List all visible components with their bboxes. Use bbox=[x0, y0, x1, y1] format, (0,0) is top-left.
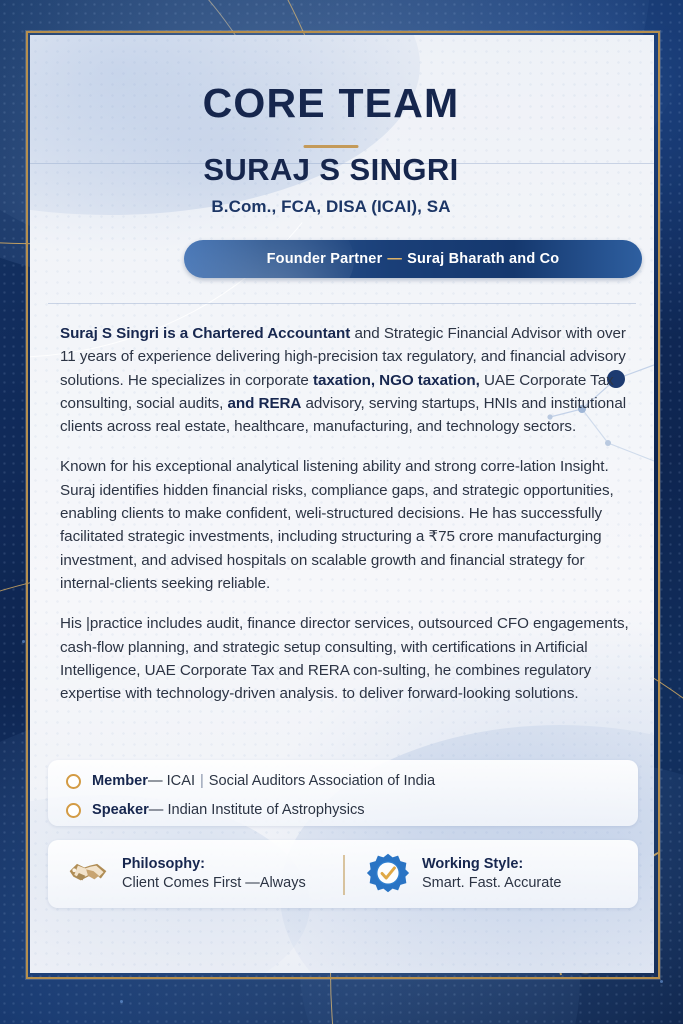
bio-bold-3: and RERA bbox=[228, 395, 302, 412]
biography-paragraph-1: Suraj S Singri is a Chartered Accountant… bbox=[60, 322, 632, 438]
person-name: SURAJ S SINGRI bbox=[30, 152, 632, 188]
biography-paragraph-3: His |practice includes audit, finance di… bbox=[60, 612, 632, 705]
working-style-block: Working Style: Smart. Fast. Accurate bbox=[366, 851, 561, 895]
speck bbox=[660, 980, 663, 983]
list-item: Speaker — Indian Institute of Astrophysi… bbox=[66, 802, 365, 818]
profile-card: CORE TEAM SURAJ S SINGRI B.Com., FCA, DI… bbox=[30, 35, 654, 973]
role-dash: — bbox=[387, 251, 402, 267]
list-item: Member — ICAI | Social Auditors Associat… bbox=[66, 773, 435, 789]
speck bbox=[120, 1000, 123, 1003]
handshake-icon bbox=[66, 851, 110, 895]
role-banner-text: Founder Partner — Suraj Bharath and Co bbox=[184, 240, 642, 278]
bio-bold-1: Suraj S Singri is a Chartered Accountant bbox=[60, 325, 350, 342]
bullet-label: Speaker bbox=[92, 802, 149, 818]
role-suffix: Suraj Bharath and Co bbox=[407, 251, 559, 267]
bullet-label: Member bbox=[92, 773, 148, 789]
working-style-text: Working Style: Smart. Fast. Accurate bbox=[422, 856, 561, 891]
memberships-panel: Member — ICAI | Social Auditors Associat… bbox=[48, 760, 638, 826]
biography-paragraph-2: Known for his exceptional analytical lis… bbox=[60, 455, 632, 595]
bullet-detail: — Indian Institute of Astrophysics bbox=[149, 802, 365, 818]
role-banner: Founder Partner — Suraj Bharath and Co bbox=[184, 240, 642, 278]
footer-panel: Philosophy: Client Comes First —Always W… bbox=[48, 840, 638, 908]
working-style-heading: Working Style: bbox=[422, 856, 561, 872]
bullet-dot-icon bbox=[66, 803, 81, 818]
gold-divider-dash bbox=[304, 145, 359, 148]
philosophy-heading: Philosophy: bbox=[122, 856, 306, 872]
section-title: CORE TEAM bbox=[30, 83, 632, 124]
bio-bold-2: taxation, NGO taxation, bbox=[313, 372, 480, 389]
biography-body: Suraj S Singri is a Chartered Accountant… bbox=[60, 322, 632, 722]
working-style-value: Smart. Fast. Accurate bbox=[422, 875, 561, 891]
bullet-detail: Social Auditors Association of India bbox=[209, 773, 435, 789]
bullet-dot-icon bbox=[66, 774, 81, 789]
person-credentials: B.Com., FCA, DISA (ICAI), SA bbox=[30, 197, 632, 217]
speck bbox=[22, 640, 25, 643]
bullet-separator: | bbox=[200, 773, 204, 789]
poster-canvas: CORE TEAM SURAJ S SINGRI B.Com., FCA, DI… bbox=[0, 0, 683, 1024]
bullet-org: — ICAI bbox=[148, 773, 195, 789]
philosophy-block: Philosophy: Client Comes First —Always bbox=[66, 851, 306, 895]
role-prefix: Founder Partner bbox=[267, 251, 383, 267]
philosophy-value: Client Comes First —Always bbox=[122, 875, 306, 891]
body-divider-rule bbox=[48, 303, 636, 304]
footer-vertical-divider bbox=[343, 855, 345, 895]
philosophy-text: Philosophy: Client Comes First —Always bbox=[122, 856, 306, 891]
gear-check-icon bbox=[366, 851, 410, 895]
